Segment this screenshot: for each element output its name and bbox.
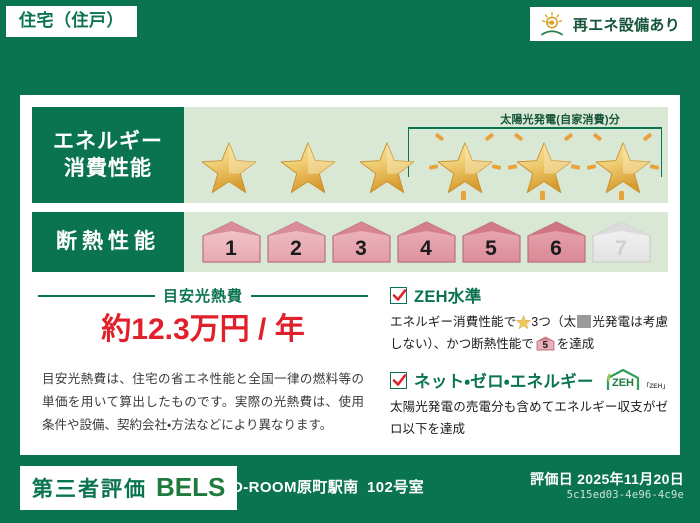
insulation-performance-row: 断熱性能 1 [32,212,668,272]
net-zero-title-row: ネット・ゼロ・エネルギー ZEH 「ZEH」 [390,368,668,392]
net-zero-energy-item: ネット・ゼロ・エネルギー ZEH 「ZEH」 太陽光発電の売電分も含めてエネルギ… [390,368,668,440]
certificate-id: 5c15ed03-4e96-4c9e [567,489,684,501]
utility-cost-block: 目安光熱費 約12.3万円 / 年 目安光熱費は、住宅の省エネ性能と全国一律の燃… [38,285,368,437]
insulation-level-number: 6 [550,238,562,265]
title-subtitle: 建築物省エネ法に基づく [0,36,700,50]
energy-key-line2: 消費性能 [64,155,152,182]
zeh-body-part3: を達成 [557,337,595,351]
label-body-card: エネルギー 消費性能 太陽光発電(自家消費)分 [20,95,680,455]
heading-rule-right [251,295,368,297]
sparkle-mark [649,164,659,170]
energy-performance-row: エネルギー 消費性能 太陽光発電(自家消費)分 [32,107,668,203]
zeh-standard-item: ZEH水準 エネルギー消費性能で3つ（太光発電は考慮しない）、かつ断熱性能で5を… [390,283,668,355]
bels-logo-text: BELS [156,472,225,503]
utility-cost-note: 目安光熱費は、住宅の省エネ性能と全国一律の燃料等の単価を用いて算出したものです。… [38,368,368,437]
insulation-level-4: 4 [395,219,458,265]
zeh-standard-title-row: ZEH水準 [390,283,668,307]
evaluation-date: 評価日 2025年11月20日 [530,469,684,489]
insulation-level-number: 3 [355,238,367,265]
insulation-level-number: 2 [290,238,302,265]
energy-star-rating [184,131,668,199]
net-zero-title: ネット・ゼロ・エネルギー [414,368,594,392]
sun-plug-icon [538,11,566,37]
insulation-level-badge-number: 5 [536,341,555,351]
third-party-eval-label: 第三者評価 [32,473,147,503]
zeh-body-part1: エネルギー消費性能で [390,315,516,329]
insulation-level-number: 1 [225,238,237,265]
energy-performance-value: 太陽光発電(自家消費)分 [184,107,668,203]
sparkle-mark [492,164,502,170]
utility-cost-heading: 目安光熱費 [38,285,368,306]
zeh-standard-body: エネルギー消費性能で3つ（太光発電は考慮しない）、かつ断熱性能で5を達成 [390,312,668,355]
insulation-level-7: 7 [590,219,653,265]
energy-key-line1: エネルギー [53,128,163,155]
zeh-body-star-count: 3つ（太 [531,315,576,329]
insulation-level-3: 3 [330,219,393,265]
insulation-level-1: 1 [200,219,263,265]
zeh-logo-caption: 「ZEH」 [643,380,669,392]
heading-rule-left [38,295,155,297]
insulation-level-5: 5 [460,219,523,265]
star-filled-pv [429,131,501,199]
star-filled [272,131,344,199]
insulation-level-number: 5 [485,238,497,265]
insulation-level-2: 2 [265,219,328,265]
star-icon [516,315,531,330]
sparkle-mark [571,164,581,170]
room-number: 102号室 [367,476,424,497]
zeh-standard-title: ZEH水準 [414,283,482,307]
energy-performance-label: 住宅（住戸） 再エネ設備あり 建築物省エネ法に基づく 省エネ性能ラベル [0,0,700,523]
pv-bracket-label: 太陽光発電(自家消費)分 [496,111,624,127]
insulation-level-6: 6 [525,219,588,265]
bels-certification-box: 第三者評価 BELS [20,466,237,510]
checkbox-checked-icon [390,372,407,389]
svg-text:ZEH: ZEH [612,377,634,389]
insulation-level-badge-icon: 5 [536,336,555,351]
insulation-performance-key: 断熱性能 [32,212,184,272]
zeh-logo-icon: ZEH 「ZEH」 [604,368,669,392]
label-title: 建築物省エネ法に基づく 省エネ性能ラベル [0,36,700,82]
footer-bar: 第三者評価 BELS D-ROOM原町駅南 102号室 評価日 2025年11月… [0,455,700,523]
checkbox-checked-icon [390,287,407,304]
building-name: D-ROOM原町駅南 [232,476,359,497]
insulation-performance-value: 1 2 [184,212,668,272]
star-filled [193,131,265,199]
energy-performance-key: エネルギー 消費性能 [32,107,184,203]
star-filled [351,131,423,199]
insulation-level-scale: 1 2 [184,219,668,265]
house-type-tag: 住宅（住戸） [6,6,137,37]
star-filled-pv [508,131,580,199]
redacted-character [577,315,591,328]
star-filled-pv [587,131,659,199]
insulation-level-number: 4 [420,238,432,265]
zeh-block: ZEH水準 エネルギー消費性能で3つ（太光発電は考慮しない）、かつ断熱性能で5を… [390,283,668,453]
renewable-badge-label: 再エネ設備あり [573,14,680,35]
insulation-level-number: 7 [615,238,627,265]
net-zero-body: 太陽光発電の売電分も含めてエネルギー収支がゼロ以下を達成 [390,397,668,440]
utility-cost-value: 約12.3万円 / 年 [38,313,368,346]
utility-cost-heading-label: 目安光熱費 [163,285,243,306]
title-main: 省エネ性能ラベル [0,55,700,82]
